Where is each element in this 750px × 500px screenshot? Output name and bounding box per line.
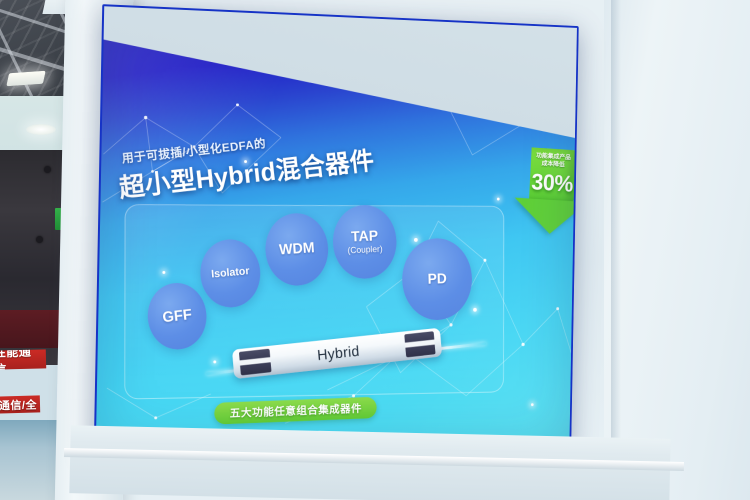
bubble-label: Isolator <box>211 266 250 281</box>
booth-right-wall <box>604 0 750 500</box>
wall-seam <box>611 0 621 500</box>
slide-canvas: HYC 用于可拔插/小型化EDFA的 超小型Hybrid混合器件 功能集成产品 … <box>94 4 579 452</box>
led-display[interactable]: HYC 用于可拔插/小型化EDFA的 超小型Hybrid混合器件 功能集成产品 … <box>94 4 579 452</box>
bubble-sublabel: (Coupler) <box>347 245 382 256</box>
photo-scene: 性能通信 通信/全 <box>0 0 750 500</box>
bubble-label: GFF <box>162 307 193 326</box>
badge-value: 30% <box>515 168 579 199</box>
bubble-label: PD <box>428 271 447 287</box>
bubble-label: TAP <box>351 229 379 245</box>
left-banner-top: 性能通信 <box>0 349 46 369</box>
bubble-label: WDM <box>279 241 315 259</box>
left-banner-bottom: 通信/全 <box>0 395 40 413</box>
badge-caption-line2: 成本降低 <box>541 160 564 168</box>
ceiling-light <box>6 71 45 86</box>
arrow-down-icon <box>513 198 579 236</box>
cost-reduction-badge: 功能集成产品 成本降低 30% <box>513 146 579 237</box>
recessed-light <box>26 124 56 135</box>
